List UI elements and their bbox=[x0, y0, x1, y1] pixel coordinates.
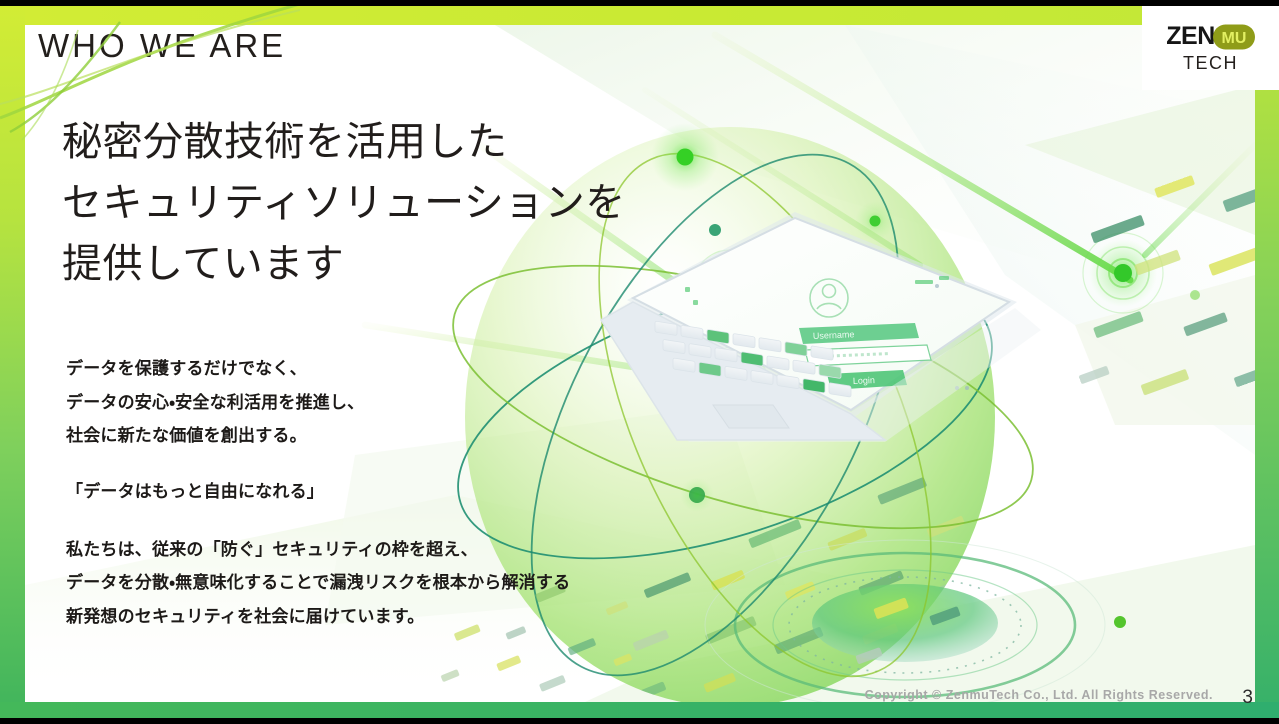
svg-text:MU: MU bbox=[1221, 30, 1246, 47]
top-black-strip bbox=[0, 0, 1279, 6]
logo-text-tech: TECH bbox=[1183, 53, 1238, 74]
paragraph-mission: データを保護するだけでなく、 データの安心・安全な利活用を推進し、 社会に新たな… bbox=[66, 352, 570, 453]
right-green-bar bbox=[1255, 25, 1279, 718]
mission-line-2: データの安心・安全な利活用を推進し、 bbox=[66, 393, 364, 412]
body-copy: データを保護するだけでなく、 データの安心・安全な利活用を推進し、 社会に新たな… bbox=[66, 352, 570, 634]
brand-logo[interactable]: ZEN MU TECH bbox=[1142, 6, 1279, 90]
tagline-quote: 「データはもっと自由になれる」 bbox=[66, 475, 570, 509]
mission-line-1: データを保護するだけでなく、 bbox=[66, 359, 307, 378]
bottom-black-strip bbox=[0, 718, 1279, 724]
headline-line-2: セキュリティソリューションを bbox=[62, 173, 626, 234]
slide-root: Username Login bbox=[0, 0, 1279, 724]
approach-line-1: 私たちは、従来の「防ぐ」セキュリティの枠を超え、 bbox=[66, 540, 478, 559]
mission-line-3: 社会に新たな価値を創出する。 bbox=[66, 426, 307, 445]
paragraph-approach: 私たちは、従来の「防ぐ」セキュリティの枠を超え、 データを分散・無意味化すること… bbox=[66, 533, 570, 634]
bottom-green-bar bbox=[0, 702, 1279, 718]
logo-mu-badge: MU bbox=[1213, 23, 1255, 51]
headline: 秘密分散技術を活用した セキュリティソリューションを 提供しています bbox=[62, 112, 626, 294]
headline-line-1: 秘密分散技術を活用した bbox=[62, 112, 626, 173]
left-green-bar bbox=[0, 6, 25, 718]
logo-text-zen: ZEN bbox=[1166, 24, 1215, 49]
page-title: WHO WE ARE bbox=[38, 27, 286, 65]
logo-wordmark: ZEN MU bbox=[1166, 23, 1255, 51]
headline-line-3: 提供しています bbox=[62, 234, 626, 295]
top-green-bar bbox=[0, 6, 1279, 25]
approach-line-2: データを分散・無意味化することで漏洩リスクを根本から解消する bbox=[66, 573, 570, 592]
page-number: 3 bbox=[1242, 687, 1253, 709]
copyright-notice: Copyright © ZenmuTech Co., Ltd. All Righ… bbox=[865, 688, 1213, 702]
approach-line-3: 新発想のセキュリティを社会に届けています。 bbox=[66, 607, 424, 626]
